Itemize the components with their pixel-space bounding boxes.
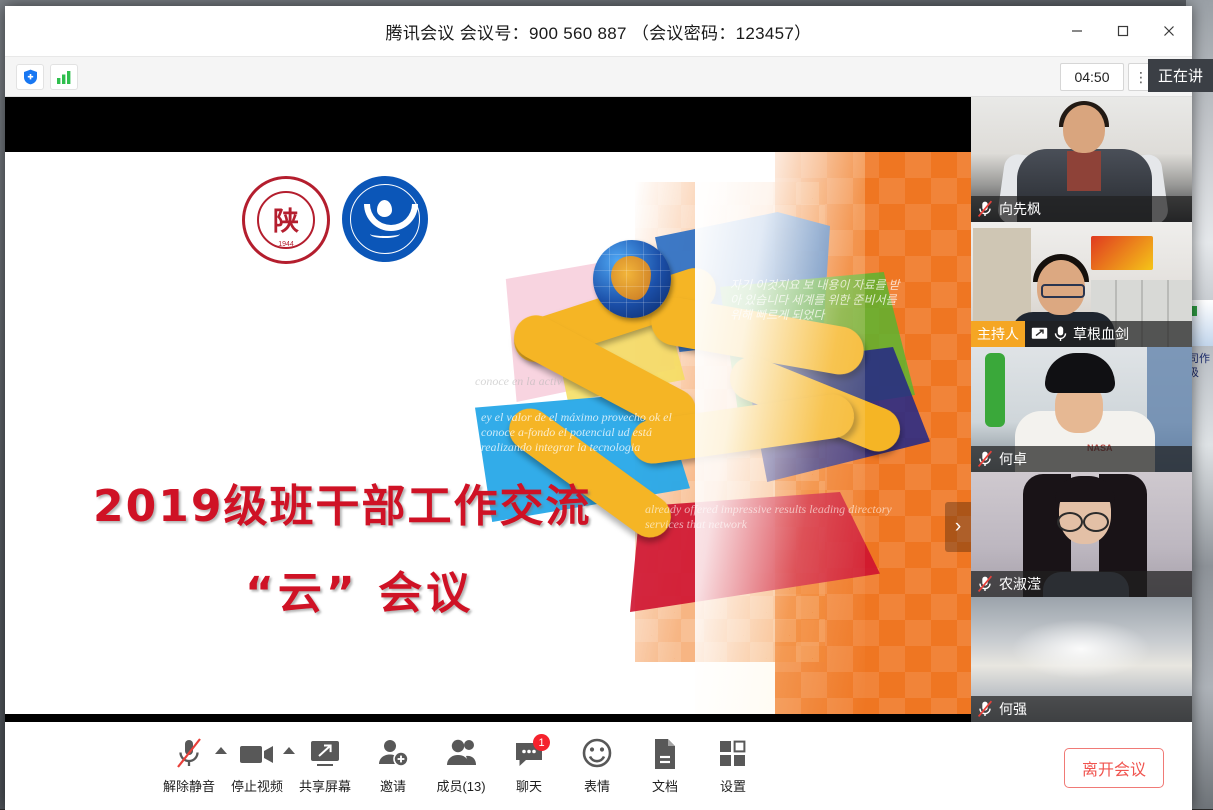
meeting-timer: 04:50 xyxy=(1060,63,1124,91)
mic-muted-icon xyxy=(977,700,993,718)
participant-name: 农淑滢 xyxy=(999,574,1041,594)
collapse-panel-chevron-right-icon[interactable]: › xyxy=(945,502,971,552)
toolbar-item-label: 表情 xyxy=(584,776,610,795)
toolbar-item-label: 共享屏幕 xyxy=(299,776,351,795)
toolbar-item-stop-video[interactable]: 停止视频 xyxy=(223,737,291,795)
participant-label-bar: 何强 xyxy=(971,696,1192,722)
participant-name: 草根血剑 xyxy=(1073,324,1129,344)
presentation-slide: 陕 1944 xyxy=(5,152,971,714)
window-controls xyxy=(1054,6,1192,56)
slide-artwork: ey el valor de el máximo provecho ok el … xyxy=(475,152,971,714)
meeting-window: 腾讯会议 会议号：900 560 887 （会议密码：123457） xyxy=(5,6,1192,809)
window-title: 腾讯会议 会议号：900 560 887 （会议密码：123457） xyxy=(5,6,1192,56)
speaking-tooltip: 正在讲 xyxy=(1148,59,1213,92)
participant-label-bar: 向先枫 xyxy=(971,196,1192,222)
meeting-toolbar: 解除静音 停止视频 xyxy=(5,722,1192,810)
toolbar-item-label: 聊天 xyxy=(516,776,542,795)
toolbar-item-participants[interactable]: 成员(13) xyxy=(427,737,495,795)
smiley-icon xyxy=(581,737,613,771)
camera-icon xyxy=(238,737,276,771)
signal-bars-icon[interactable] xyxy=(50,64,78,90)
participant-tile[interactable]: NASA 何卓 xyxy=(971,347,1192,472)
participant-tile[interactable]: 向先枫 xyxy=(971,97,1192,222)
maximize-icon[interactable] xyxy=(1100,6,1146,56)
slide-title: 2019级班干部工作交流 xyxy=(93,470,591,534)
globe-icon xyxy=(593,240,671,318)
mic-muted-icon xyxy=(174,737,204,771)
participant-tile[interactable]: 农淑滢 xyxy=(971,472,1192,597)
participant-label-bar: 何卓 xyxy=(971,446,1192,472)
toolbar-item-label: 成员(13) xyxy=(436,776,485,795)
screen-share-icon xyxy=(1031,327,1048,341)
toolbar-item-label: 文档 xyxy=(652,776,678,795)
chat-unread-badge: 1 xyxy=(533,734,550,751)
toolbar-item-invite[interactable]: 邀请 xyxy=(359,737,427,795)
toolbar-item-unmute[interactable]: 解除静音 xyxy=(155,737,223,795)
slide-subtitle: “云” 会议 xyxy=(245,557,474,621)
title-bar: 腾讯会议 会议号：900 560 887 （会议密码：123457） xyxy=(5,6,1192,57)
toolbar-item-label: 邀请 xyxy=(380,776,406,795)
toolbar-item-document[interactable]: 文档 xyxy=(631,737,699,795)
close-icon[interactable] xyxy=(1146,6,1192,56)
status-bar: 04:50 ⋮ 正在讲 xyxy=(5,57,1192,97)
college-logo-blue xyxy=(342,176,428,262)
mic-muted-icon xyxy=(977,200,993,218)
shared-screen-area[interactable]: 陕 1944 xyxy=(5,97,971,722)
people-icon xyxy=(444,737,478,771)
participant-tile[interactable]: 何强 xyxy=(971,597,1192,722)
toolbar-item-share-screen[interactable]: 共享屏幕 xyxy=(291,737,359,795)
toolbar-items: 解除静音 停止视频 xyxy=(155,737,767,795)
participant-name: 何卓 xyxy=(999,449,1027,469)
person-add-icon xyxy=(376,737,410,771)
participant-label-bar: 农淑滢 xyxy=(971,571,1192,597)
toolbar-item-emoji[interactable]: 表情 xyxy=(563,737,631,795)
participant-strip[interactable]: 向先枫 主持人 xyxy=(971,97,1192,722)
toolbar-item-label: 解除静音 xyxy=(163,776,215,795)
logo-red-year: 1944 xyxy=(245,241,327,248)
slide-date: 2020年4月18日 xyxy=(262,712,473,714)
toolbar-item-settings[interactable]: 设置 xyxy=(699,737,767,795)
screen-share-icon xyxy=(308,737,342,771)
participant-name: 向先枫 xyxy=(999,199,1041,219)
participant-tile[interactable]: 主持人 草根血剑 xyxy=(971,222,1192,347)
toolbar-item-chat[interactable]: 1 聊天 xyxy=(495,737,563,795)
participant-label-bar: 主持人 草根血剑 xyxy=(971,321,1192,347)
minimize-icon[interactable] xyxy=(1054,6,1100,56)
university-logo-red: 陕 1944 xyxy=(242,176,330,264)
mic-on-icon xyxy=(1054,325,1067,343)
leave-meeting-button[interactable]: 离开会议 xyxy=(1064,748,1164,788)
grid-icon xyxy=(718,737,748,771)
mic-muted-icon xyxy=(977,450,993,468)
mic-muted-icon xyxy=(977,575,993,593)
toolbar-item-label: 停止视频 xyxy=(231,776,283,795)
toolbar-item-label: 设置 xyxy=(720,776,746,795)
shield-plus-icon[interactable] xyxy=(16,64,44,90)
host-badge: 主持人 xyxy=(971,321,1025,347)
meeting-stage: 陕 1944 xyxy=(5,97,1192,722)
document-icon xyxy=(651,737,679,771)
participant-name: 何强 xyxy=(999,699,1027,719)
logo-red-character: 陕 xyxy=(245,201,327,238)
artwork-fade xyxy=(695,152,865,714)
